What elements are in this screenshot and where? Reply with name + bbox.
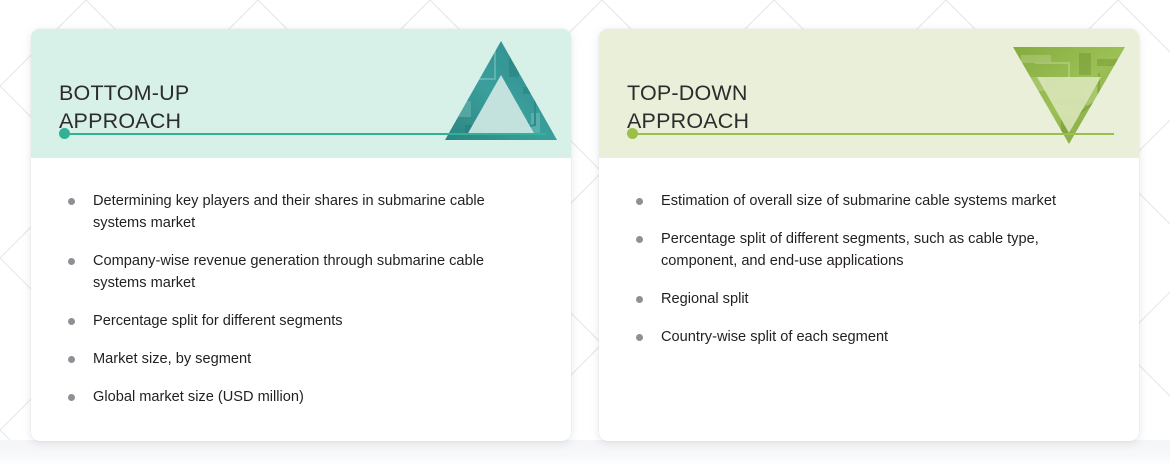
bullet-dot-icon [68,258,75,265]
list-item-label: Percentage split for different segments [93,310,541,332]
list-item-label: Estimation of overall size of submarine … [661,190,1109,212]
card-title-bottom-up: BOTTOM-UP APPROACH [59,79,189,135]
accent-rule-bottom-up [59,128,546,140]
bullet-dot-icon [636,296,643,303]
bullet-dot-icon [68,318,75,325]
accent-line [69,133,546,135]
bullet-list-top-down: Estimation of overall size of submarine … [633,190,1109,348]
list-item: Country-wise split of each segment [633,326,1109,348]
list-item: Company-wise revenue generation through … [65,250,541,294]
bullet-list-bottom-up: Determining key players and their shares… [65,190,541,408]
list-item: Regional split [633,288,1109,310]
bullet-dot-icon [636,334,643,341]
list-item-label: Determining key players and their shares… [93,190,541,234]
card-title-top-down: TOP-DOWN APPROACH [627,79,749,135]
bullet-dot-icon [636,198,643,205]
list-item: Percentage split for different segments [65,310,541,332]
accent-line [637,133,1114,135]
list-item: Global market size (USD million) [65,386,541,408]
list-item-label: Regional split [661,288,1109,310]
list-item-label: Market size, by segment [93,348,541,370]
approach-cards-container: BOTTOM-UP APPROACH Determining key playe… [0,0,1170,467]
bullet-dot-icon [68,356,75,363]
list-item-label: Percentage split of different segments, … [661,228,1109,272]
card-top-down: TOP-DOWN APPROACH Estimation of overall … [599,29,1139,441]
list-item-label: Country-wise split of each segment [661,326,1109,348]
card-header-top-down: TOP-DOWN APPROACH [599,29,1139,158]
bullet-dot-icon [68,198,75,205]
bullet-dot-icon [68,394,75,401]
list-item-label: Global market size (USD million) [93,386,541,408]
card-body-bottom-up: Determining key players and their shares… [31,158,571,408]
list-item: Estimation of overall size of submarine … [633,190,1109,212]
list-item: Determining key players and their shares… [65,190,541,234]
accent-rule-top-down [627,128,1114,140]
bullet-dot-icon [636,236,643,243]
card-body-top-down: Estimation of overall size of submarine … [599,158,1139,348]
list-item: Percentage split of different segments, … [633,228,1109,272]
card-bottom-up: BOTTOM-UP APPROACH Determining key playe… [31,29,571,441]
card-header-bottom-up: BOTTOM-UP APPROACH [31,29,571,158]
list-item: Market size, by segment [65,348,541,370]
list-item-label: Company-wise revenue generation through … [93,250,541,294]
